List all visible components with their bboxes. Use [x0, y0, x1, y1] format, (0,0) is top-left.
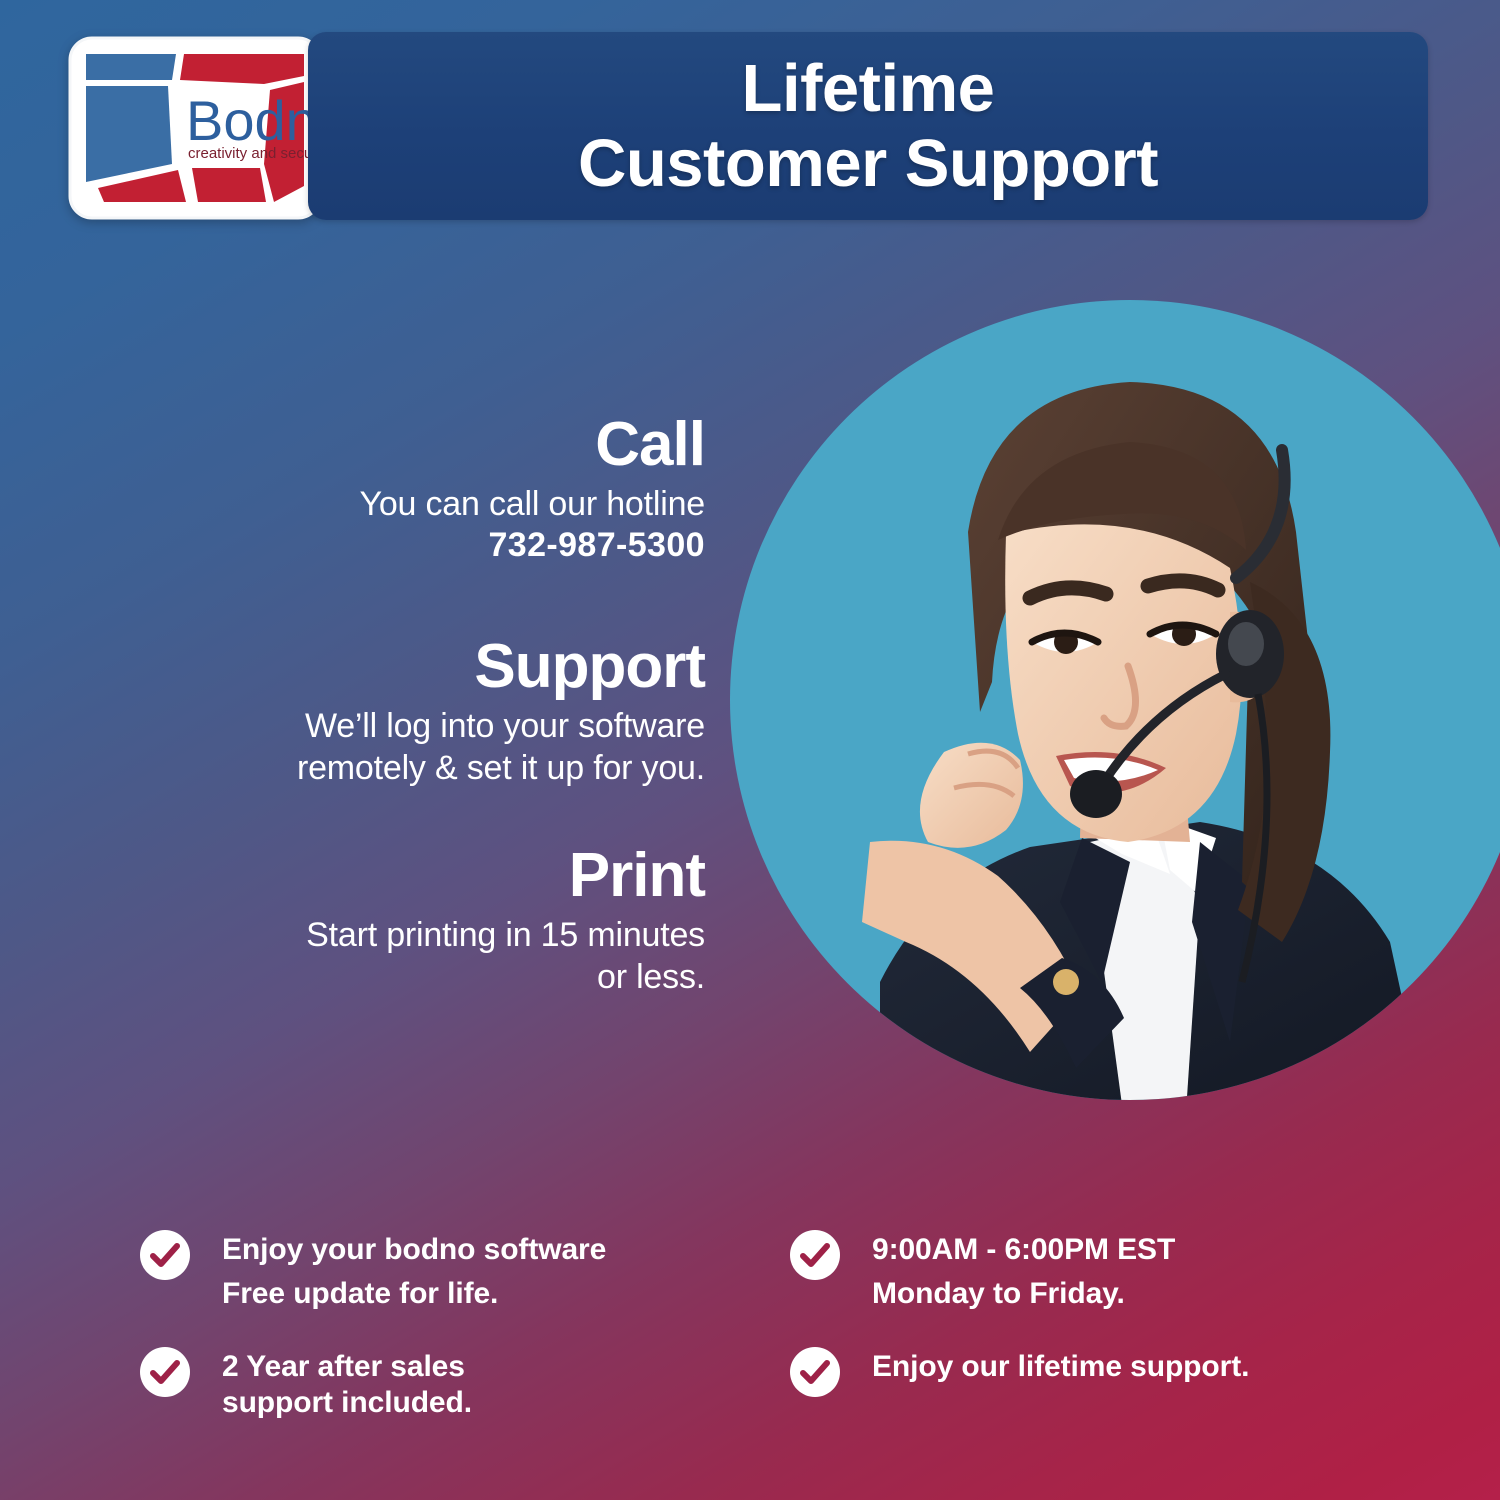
check-circle-icon [140, 1230, 190, 1280]
logo-shape-red-top [180, 54, 304, 84]
checklist-left-text-2: 2 Year after sales support included. [222, 1345, 472, 1421]
list-item: Enjoy your bodno software Free update fo… [140, 1228, 740, 1317]
support-agent-photo [730, 282, 1500, 1127]
logo-brand-text: Bodno [186, 89, 322, 152]
section-print: Print Start printing in 15 minutes or le… [145, 845, 705, 999]
section-print-heading: Print [145, 845, 705, 907]
section-support-subtext: We’ll log into your software remotely & … [145, 706, 705, 790]
support-agent-illustration [730, 282, 1500, 1127]
check-circle-icon [140, 1347, 190, 1397]
wristwatch [1053, 969, 1079, 995]
section-call-heading: Call [145, 414, 705, 476]
checklist-right-text-2: Enjoy our lifetime support. [872, 1345, 1249, 1385]
bodno-logo: Bodno creativity and security [68, 36, 322, 220]
header-banner: Lifetime Customer Support [308, 32, 1428, 220]
hotline-phone-number[interactable]: 732-987-5300 [145, 526, 705, 565]
list-item: 2 Year after sales support included. [140, 1345, 740, 1421]
checklist-right-text-1: 9:00AM - 6:00PM EST Monday to Friday. [872, 1228, 1175, 1317]
section-print-subtext: Start printing in 15 minutes or less. [145, 915, 705, 999]
list-item: Enjoy our lifetime support. [790, 1345, 1410, 1397]
bodno-logo-svg: Bodno creativity and security [68, 36, 322, 220]
page-title: Lifetime Customer Support [308, 51, 1428, 201]
logo-tagline-text: creativity and security [188, 145, 322, 162]
list-item: 9:00AM - 6:00PM EST Monday to Friday. [790, 1228, 1410, 1317]
poster-background: Bodno creativity and security Lifetime C… [0, 0, 1500, 1500]
check-circle-icon [790, 1347, 840, 1397]
section-call-subtext: You can call our hotline [145, 484, 705, 526]
section-call: Call You can call our hotline 732-987-53… [145, 414, 705, 565]
checklist-right: 9:00AM - 6:00PM EST Monday to Friday. En… [790, 1228, 1410, 1397]
checklist-left-text-1: Enjoy your bodno software Free update fo… [222, 1228, 606, 1317]
section-support-heading: Support [145, 636, 705, 698]
headset-mic-capsule [1070, 770, 1122, 818]
section-support: Support We’ll log into your software rem… [145, 636, 705, 790]
headset-earpiece-inner [1228, 622, 1264, 666]
logo-shape-blue-top [86, 54, 176, 80]
check-circle-icon [790, 1230, 840, 1280]
checklist-left: Enjoy your bodno software Free update fo… [140, 1228, 740, 1421]
logo-shape-red-bottom-mid [192, 168, 266, 202]
